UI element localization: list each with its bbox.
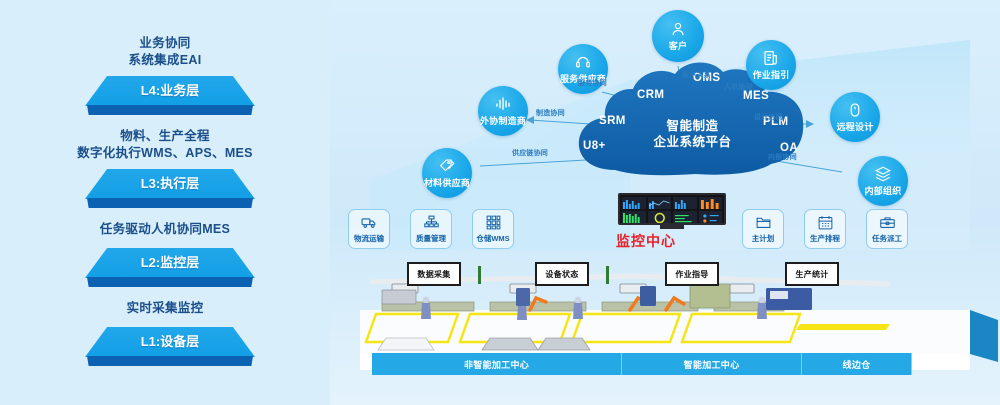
user-icon [669, 20, 687, 38]
ecosystem-panel: 智能制造 企业系统平台 OMS CRM MES SRM PLM U8+ OA 客… [330, 0, 1000, 405]
cloud-module-u8plus[interactable]: U8+ [583, 140, 606, 152]
monitor-stand [660, 225, 684, 229]
bubble-work-instruction[interactable]: 作业指引 [746, 40, 796, 90]
icon-card-label-quality: 质量管理 [416, 233, 446, 244]
floor-sign-production-stats[interactable]: 生产统计 [785, 262, 839, 286]
connector-label-human-machine: 人机协同 [724, 82, 753, 92]
dashboard-row-bottom [622, 211, 722, 223]
bubble-label-remote-design: 远程设计 [837, 120, 874, 133]
icon-card-label-wms: 仓储WMS [476, 233, 509, 244]
icon-card-master-plan[interactable]: 主计划 [742, 209, 784, 249]
dashboard-monitor[interactable] [618, 193, 726, 225]
icon-card-wms[interactable]: 仓储WMS [472, 209, 514, 249]
cloud-module-crm[interactable]: CRM [637, 89, 664, 101]
bubble-label-customer: 客户 [669, 39, 687, 52]
layer-base-face-l1 [87, 356, 253, 366]
layer-base-face-l2 [87, 277, 253, 287]
dashboard-chart-bar2 [673, 197, 697, 209]
layer-shape-l3[interactable]: L3:执行层 [85, 169, 255, 209]
icon-card-label-master-plan: 主计划 [752, 233, 775, 244]
dashboard-chart-green-bars [622, 211, 646, 223]
layer-shape-l2[interactable]: L2:监控层 [85, 248, 255, 288]
layer-caption-l1-line1: 实时采集监控 [0, 300, 330, 317]
calendar-icon [817, 214, 834, 231]
dashboard-status-dots [699, 211, 723, 223]
layer-label-l1: L1:设备层 [85, 327, 255, 357]
toolbox-icon [879, 214, 896, 231]
layer-caption-l2: 任务驱动人机协同MES [0, 221, 330, 238]
layer-caption-l3-line2: 数字化执行WMS、APS、MES [0, 145, 330, 162]
zone-label-non-smart-center[interactable]: 非智能加工中心 [372, 353, 622, 375]
document-icon [762, 49, 780, 67]
folder-icon [755, 214, 772, 231]
bubble-label-work-instruction: 作业指引 [753, 68, 790, 81]
floor-sign-work-guidance[interactable]: 作业指导 [665, 262, 719, 286]
monitoring-center-caption: 监控中心 [616, 231, 746, 251]
layer-caption-l1: 实时采集监控 [0, 300, 330, 317]
layer-caption-l4: 业务协同 系统集成EAI [0, 35, 330, 69]
connector-label-design-collab: 设计协同 [754, 112, 783, 122]
layer-caption-l3: 物料、生产全程 数字化执行WMS、APS、MES [0, 128, 330, 162]
connector-label-service-collab: 服务协同 [578, 78, 607, 88]
zone-label-line-side-store[interactable]: 线边仓 [802, 353, 912, 375]
maturity-layer-panel: 业务协同 系统集成EAI L4:业务层 物料、生产全程 数字化执行WMS、APS… [0, 0, 330, 405]
layers-icon [874, 165, 892, 183]
waveform-icon [494, 95, 512, 113]
zone-label-smart-center[interactable]: 智能加工中心 [622, 353, 802, 375]
bubble-label-outsourced-manufacturer: 外协制造商 [480, 114, 526, 127]
bubble-remote-design[interactable]: 远程设计 [830, 92, 880, 142]
dashboard-chart-green-lines [673, 211, 697, 223]
layer-base-face-l4 [87, 105, 253, 115]
headset-icon [574, 53, 592, 71]
layer-shape-l4[interactable]: L4:业务层 [85, 76, 255, 116]
layer-shape-l1[interactable]: L1:设备层 [85, 327, 255, 367]
cloud-module-srm[interactable]: SRM [599, 115, 626, 127]
connector-label-internal-collab: 内部协同 [768, 152, 797, 162]
dashboard-row-top [622, 197, 722, 209]
layer-label-l3: L3:执行层 [85, 169, 255, 199]
dashboard-chart-line [648, 197, 672, 209]
icon-card-production-schedule[interactable]: 生产排程 [804, 209, 846, 249]
floor-sign-equipment-status[interactable]: 设备状态 [535, 262, 589, 286]
icon-card-logistics[interactable]: 物流运输 [348, 209, 390, 249]
layer-caption-l4-line1: 业务协同 [0, 35, 330, 52]
truck-icon [361, 214, 378, 231]
icon-card-label-task-dispatch: 任务派工 [872, 233, 902, 244]
cloud-title-line2: 企业系统平台 [575, 134, 810, 150]
mouse-icon [846, 101, 864, 119]
bubble-outsourced-manufacturer[interactable]: 外协制造商 [478, 86, 528, 136]
hierarchy-icon [423, 214, 440, 231]
floor-sign-data-collection[interactable]: 数据采集 [407, 262, 461, 286]
dashboard-chart-orange [699, 197, 723, 209]
connector-label-customer-relation: 客户关系 [682, 70, 711, 80]
diagram-root: 业务协同 系统集成EAI L4:业务层 物料、生产全程 数字化执行WMS、APS… [0, 0, 1000, 405]
bubble-label-material-supplier: 材料供应商 [424, 176, 470, 189]
icon-card-label-production-schedule: 生产排程 [810, 233, 840, 244]
connector-label-supply-chain: 供应链协同 [512, 148, 548, 158]
layer-base-face-l3 [87, 198, 253, 208]
boxes-icon [485, 214, 502, 231]
layer-caption-l4-line2: 系统集成EAI [0, 52, 330, 69]
icon-card-label-logistics: 物流运输 [354, 233, 384, 244]
tag-icon [438, 157, 456, 175]
dashboard-chart-bar1 [622, 197, 646, 209]
dashboard-gauge-ring [648, 211, 672, 223]
icon-card-quality[interactable]: 质量管理 [410, 209, 452, 249]
icon-card-task-dispatch[interactable]: 任务派工 [866, 209, 908, 249]
layer-label-l2: L2:监控层 [85, 248, 255, 278]
connector-label-manufacture-collab: 制造协同 [536, 108, 565, 118]
layer-caption-l3-line1: 物料、生产全程 [0, 128, 330, 145]
bubble-customer[interactable]: 客户 [652, 10, 704, 62]
layer-label-l4: L4:业务层 [85, 76, 255, 106]
bubble-material-supplier[interactable]: 材料供应商 [422, 148, 472, 198]
layer-caption-l2-line1: 任务驱动人机协同MES [0, 221, 330, 238]
factory-floor-scene: 数据采集 设备状态 作业指导 生产统计 非智能加工中心 智能加工中心 线边仓 [330, 258, 1000, 405]
